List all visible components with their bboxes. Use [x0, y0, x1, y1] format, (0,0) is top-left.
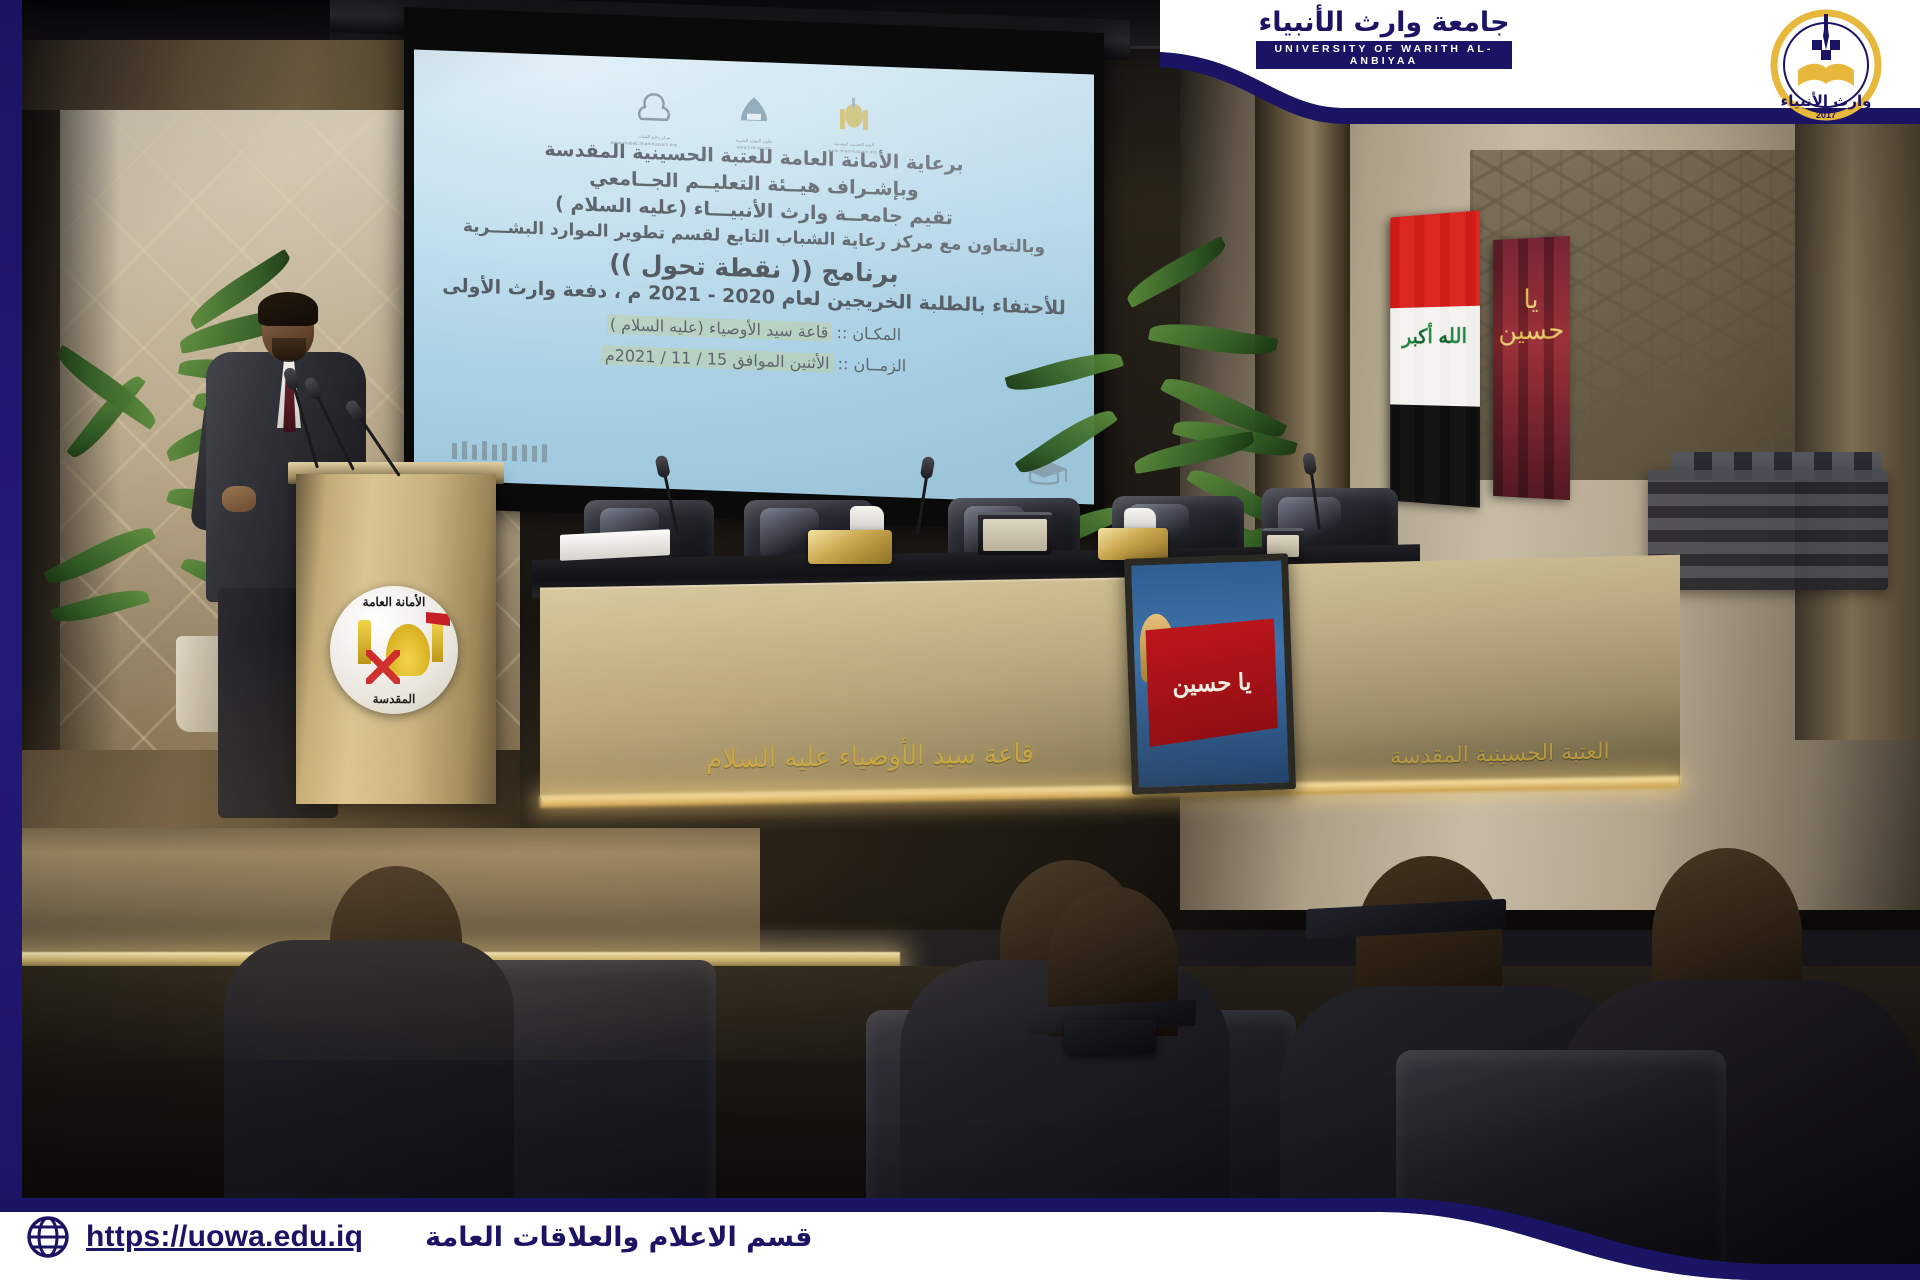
speaker-beard — [272, 338, 306, 362]
slide-place-value: قاعة سيد الأوصياء (عليه السلام ) — [607, 315, 832, 342]
slide-place-label: المكـان :: — [837, 323, 902, 344]
speaker-hair — [258, 292, 318, 326]
imam-hussein-shrine-emblem: الأمانة العامة المقدسة — [330, 586, 458, 714]
projector-screen: العتبة الحسينية المقدسة www.imamhussain.… — [414, 50, 1094, 505]
decorative-gold-box — [808, 530, 892, 564]
red-flag-in-photo: يا حسين — [1145, 618, 1278, 747]
speaker-hand — [222, 486, 256, 512]
crest-arabic-text: وارث الأنبياء — [1781, 92, 1872, 110]
emblem-top-text: الأمانة العامة — [363, 595, 426, 609]
university-logo: جامعة وارث الأنبياء UNIVERSITY OF WARITH… — [1256, 8, 1512, 70]
slide-logo-caption: تطوير الموارد البشرية — [731, 137, 777, 144]
slide-logo-caption: مركز رعاية الشباب — [631, 133, 677, 140]
wall-column-right — [1795, 40, 1920, 740]
desk-calligraphy: قاعة سيد الأوصياء عليه السلام — [640, 738, 1100, 792]
event-photo-page: العتبة الحسينية المقدسة www.imamhussain.… — [0, 0, 1920, 1280]
slide-time-value: الأثنين الموافق 15 / 11 / 2021م — [602, 345, 833, 372]
desk-nameplate — [978, 512, 1052, 555]
decorative-gold-box — [1098, 528, 1168, 560]
slide-time-label: الزمــان :: — [838, 354, 907, 376]
university-crest: وارث الأنبياء 2017 — [1768, 6, 1884, 124]
presentation-slide: العتبة الحسينية المقدسة www.imamhussain.… — [414, 50, 1094, 505]
framed-picture: يا حسين — [1124, 553, 1296, 795]
footer-bar: https://uowa.edu.iq قسم الاعلام والعلاقا… — [0, 1194, 1920, 1280]
tissue — [850, 506, 884, 532]
wall-calligraphy: العتبة الحسينية المقدسة — [1330, 738, 1670, 792]
stacked-chairs — [1648, 470, 1888, 590]
human-resources-development-logo: تطوير الموارد البشرية www.hrd-iq.com — [731, 91, 777, 145]
university-name-arabic: جامعة وارث الأنبياء — [1256, 8, 1512, 38]
youth-care-center-logo: مركز رعاية الشباب www.shabab.imamhussain… — [631, 87, 677, 141]
mourning-flag: يا حسين — [1493, 236, 1570, 500]
emblem-bottom-text: المقدسة — [373, 692, 416, 706]
graduation-cap-1-crown — [1064, 1020, 1156, 1054]
iraq-flag: الله أكبر — [1390, 210, 1480, 507]
department-name: قسم الاعلام والعلاقات العامة — [425, 1222, 812, 1253]
flag-fold-shading — [1390, 210, 1480, 507]
crest-year-text: 2017 — [1816, 110, 1836, 120]
left-navy-bar — [0, 0, 22, 1280]
university-name-english: UNIVERSITY OF WARITH AL-ANBIYAA — [1256, 41, 1512, 69]
slide-logo-caption: العتبة الحسينية المقدسة — [831, 141, 877, 148]
flag-fold-shading-2 — [1493, 236, 1570, 500]
event-photograph: العتبة الحسينية المقدسة www.imamhussain.… — [0, 0, 1920, 1280]
framed-picture-image: يا حسين — [1131, 560, 1289, 787]
website-url-link[interactable]: https://uowa.edu.iq — [86, 1220, 363, 1254]
globe-icon — [26, 1215, 70, 1259]
framed-flag-text: يا حسين — [1147, 668, 1277, 699]
imam-hussein-holy-shrine-logo: العتبة الحسينية المقدسة www.imamhussain.… — [831, 95, 877, 149]
